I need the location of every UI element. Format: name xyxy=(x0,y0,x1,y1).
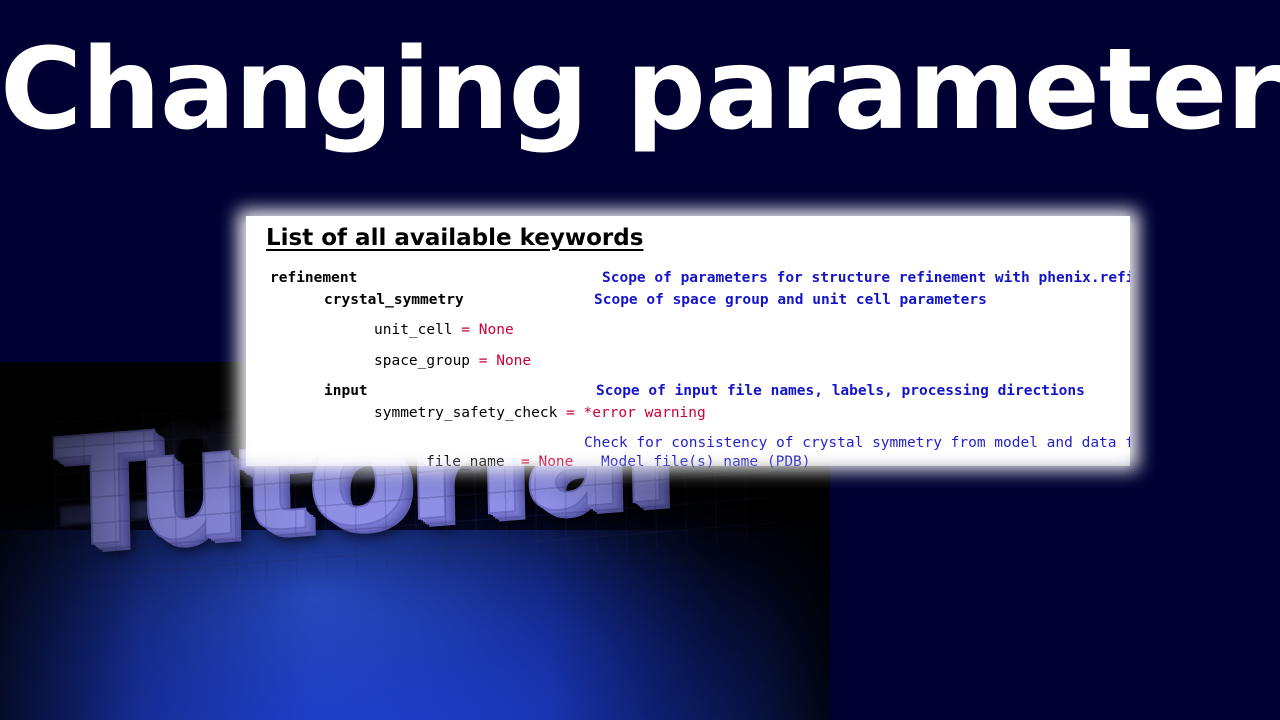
keyword-list: refinementScope of parameters for struct… xyxy=(246,270,1130,466)
keyword-name: crystal_symmetry xyxy=(324,292,464,308)
keyword-row-spacer xyxy=(246,313,1130,322)
keyword-row-spacer xyxy=(246,374,1130,383)
keyword-doc: Scope of space group and unit cell param… xyxy=(594,292,987,308)
keyword-row-last: file_name = None Model file(s) name (PDB… xyxy=(246,454,1130,476)
keyword-value: = None xyxy=(521,454,573,470)
keyword-name: file_name xyxy=(426,454,505,470)
keyword-panel: List of all available keywords refinemen… xyxy=(246,216,1130,466)
panel-heading: List of all available keywords xyxy=(266,225,643,251)
presentation-slide: Changing parameters Tutorial Tutorial Li… xyxy=(0,0,1280,720)
keyword-doc: Scope of input file names, labels, proce… xyxy=(596,383,1085,399)
keyword-row-spacer xyxy=(246,344,1130,353)
keyword-row-spacer xyxy=(246,426,1130,435)
keyword-name: input xyxy=(324,383,368,399)
keyword-row: refinementScope of parameters for struct… xyxy=(246,270,1130,292)
keyword-name: refinement xyxy=(270,270,357,286)
keyword-row: unit_cell = None xyxy=(246,322,1130,344)
keyword-value: = None xyxy=(453,322,514,338)
keyword-doc: Check for consistency of crystal symmetr… xyxy=(584,435,1130,451)
keyword-value: = None xyxy=(470,353,531,369)
keyword-name: unit_cell = None xyxy=(374,322,514,338)
keyword-row: inputScope of input file names, labels, … xyxy=(246,383,1130,405)
keyword-name: symmetry_safety_check = *error warning xyxy=(374,405,706,421)
keyword-row: crystal_symmetryScope of space group and… xyxy=(246,292,1130,314)
keyword-doc: Model file(s) name (PDB) xyxy=(601,454,811,470)
page-title: Changing parameters xyxy=(0,28,1280,153)
keyword-doc: Scope of parameters for structure refine… xyxy=(602,270,1130,286)
keyword-value: = *error warning xyxy=(557,405,705,421)
keyword-row: symmetry_safety_check = *error warning xyxy=(246,405,1130,427)
keyword-row: space_group = None xyxy=(246,353,1130,375)
keyword-name: space_group = None xyxy=(374,353,531,369)
